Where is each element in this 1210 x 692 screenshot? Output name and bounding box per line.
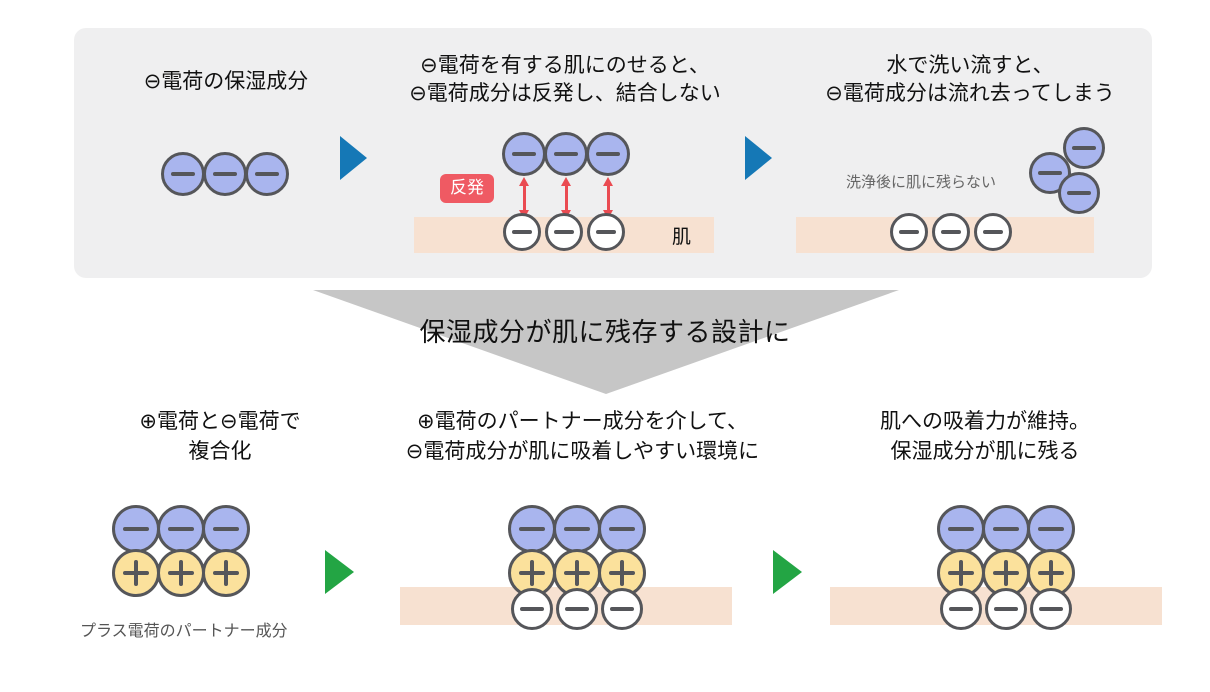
particle-minus	[937, 505, 985, 553]
minus-sign-icon	[506, 216, 538, 248]
particle-minus	[1058, 172, 1100, 214]
skin-particle-minus	[511, 588, 553, 630]
particle-minus	[202, 505, 250, 553]
particle-minus	[161, 152, 205, 196]
minus-sign-icon	[1061, 175, 1097, 211]
top-step2-heading-line2: ⊖電荷成分は反発し、結合しない	[390, 80, 740, 108]
minus-sign-icon	[590, 216, 622, 248]
skin-particle-minus	[587, 213, 625, 251]
minus-sign-icon	[160, 508, 202, 550]
minus-sign-icon	[1030, 508, 1072, 550]
bottom-step3-heading-line1: 肌への吸着力が維持。	[820, 408, 1150, 436]
skin-particle-minus	[974, 213, 1012, 251]
top-step1-heading: ⊖電荷の保湿成分	[120, 68, 332, 96]
minus-sign-icon	[893, 216, 925, 248]
minus-sign-icon	[988, 591, 1024, 627]
minus-sign-icon	[935, 216, 967, 248]
minus-sign-icon	[977, 216, 1009, 248]
minus-sign-icon	[604, 591, 640, 627]
minus-sign-icon	[940, 508, 982, 550]
skin-particle-minus	[545, 213, 583, 251]
bottom-step2-heading-line2: ⊖電荷成分が肌に吸着しやすい環境に	[385, 438, 780, 466]
minus-sign-icon	[1066, 130, 1102, 166]
minus-sign-icon	[943, 591, 979, 627]
minus-sign-icon	[248, 155, 286, 193]
minus-sign-icon	[164, 155, 202, 193]
skin-label: 肌	[672, 222, 691, 249]
minus-sign-icon	[556, 508, 598, 550]
transition-title: 保湿成分が肌に残存する設計に	[0, 312, 1210, 349]
play-arrow-green-icon	[773, 550, 802, 594]
minus-sign-icon	[589, 135, 627, 173]
particle-minus	[203, 152, 247, 196]
particle-minus	[508, 505, 556, 553]
skin-particle-minus	[556, 588, 598, 630]
particle-minus	[502, 132, 546, 176]
skin-particle-minus	[601, 588, 643, 630]
particle-minus	[982, 505, 1030, 553]
particle-plus	[112, 549, 160, 597]
particle-plus	[202, 549, 250, 597]
minus-sign-icon	[205, 508, 247, 550]
play-arrow-green-icon	[325, 550, 354, 594]
particle-minus	[157, 505, 205, 553]
minus-sign-icon	[505, 135, 543, 173]
top-step2-heading-line1: ⊖電荷を有する肌にのせると、	[390, 52, 740, 80]
play-arrow-blue-icon	[745, 136, 772, 180]
particle-minus	[586, 132, 630, 176]
particle-minus	[112, 505, 160, 553]
skin-particle-minus	[985, 588, 1027, 630]
particle-minus	[544, 132, 588, 176]
minus-sign-icon	[985, 508, 1027, 550]
particle-plus	[157, 549, 205, 597]
particle-minus	[1027, 505, 1075, 553]
minus-sign-icon	[601, 508, 643, 550]
bottom-step2-heading-line1: ⊕電荷のパートナー成分を介して、	[385, 408, 780, 436]
play-arrow-blue-icon	[340, 136, 367, 180]
partner-ingredient-caption: プラス電荷のパートナー成分	[80, 617, 288, 641]
bottom-step1-heading-line2: 複合化	[60, 438, 380, 466]
bottom-step3-heading-line2: 保湿成分が肌に残る	[820, 438, 1150, 466]
minus-sign-icon	[548, 216, 580, 248]
minus-sign-icon	[206, 155, 244, 193]
plus-sign-icon	[160, 552, 202, 594]
top-step3-heading-line1: 水で洗い流すと、	[790, 52, 1150, 80]
minus-sign-icon	[115, 508, 157, 550]
plus-sign-icon	[115, 552, 157, 594]
plus-sign-icon	[205, 552, 247, 594]
top-step3-heading-line2: ⊖電荷成分は流れ去ってしまう	[790, 80, 1150, 108]
skin-particle-minus	[503, 213, 541, 251]
bottom-step1-heading-line1: ⊕電荷と⊖電荷で	[60, 408, 380, 436]
minus-sign-icon	[514, 591, 550, 627]
particle-minus	[598, 505, 646, 553]
skin-particle-minus	[940, 588, 982, 630]
particle-minus	[245, 152, 289, 196]
minus-sign-icon	[1033, 591, 1069, 627]
minus-sign-icon	[547, 135, 585, 173]
top-step3-note: 洗浄後に肌に残らない	[846, 171, 996, 192]
particle-minus	[553, 505, 601, 553]
skin-particle-minus	[932, 213, 970, 251]
minus-sign-icon	[559, 591, 595, 627]
skin-particle-minus	[890, 213, 928, 251]
minus-sign-icon	[511, 508, 553, 550]
skin-particle-minus	[1030, 588, 1072, 630]
repulsion-badge: 反発	[440, 174, 494, 203]
particle-minus	[1063, 127, 1105, 169]
